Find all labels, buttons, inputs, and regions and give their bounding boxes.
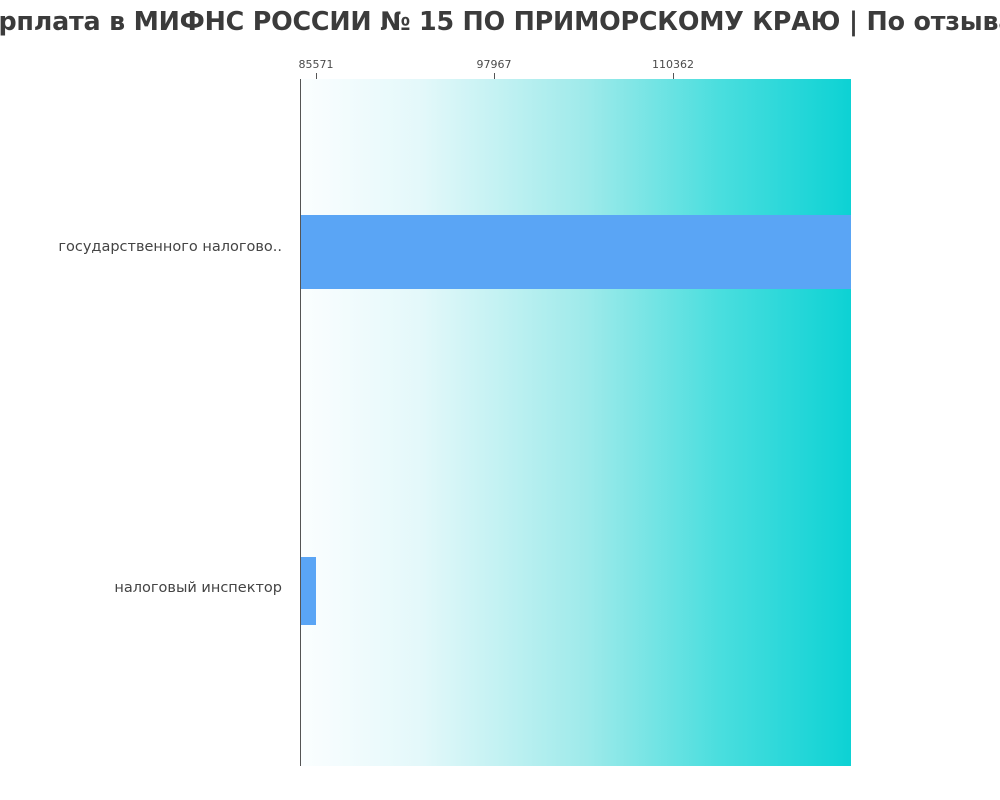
x-axis-tick-mark-2 xyxy=(673,73,674,79)
y-axis-category-labels: государственного налогово.. налоговый ин… xyxy=(0,0,291,800)
x-axis-tick-mark-0 xyxy=(316,73,317,79)
bar-1 xyxy=(301,557,316,625)
y-axis-line xyxy=(300,79,301,766)
x-axis-tick-mark-1 xyxy=(494,73,495,79)
chart-figure: Зарплата в МИФНС РОССИИ № 15 ПО ПРИМОРСК… xyxy=(0,0,1000,800)
plot-area: 85571 97967 110362 xyxy=(301,79,851,766)
plot-background-gradient xyxy=(301,79,851,766)
y-axis-label-0: государственного налогово.. xyxy=(58,239,282,255)
bar-0 xyxy=(301,215,851,289)
x-axis-tick-label-2: 110362 xyxy=(652,58,694,71)
y-axis-label-1: налоговый инспектор xyxy=(114,580,282,596)
x-axis-tick-label-0: 85571 xyxy=(299,58,334,71)
x-axis-tick-label-1: 97967 xyxy=(477,58,512,71)
